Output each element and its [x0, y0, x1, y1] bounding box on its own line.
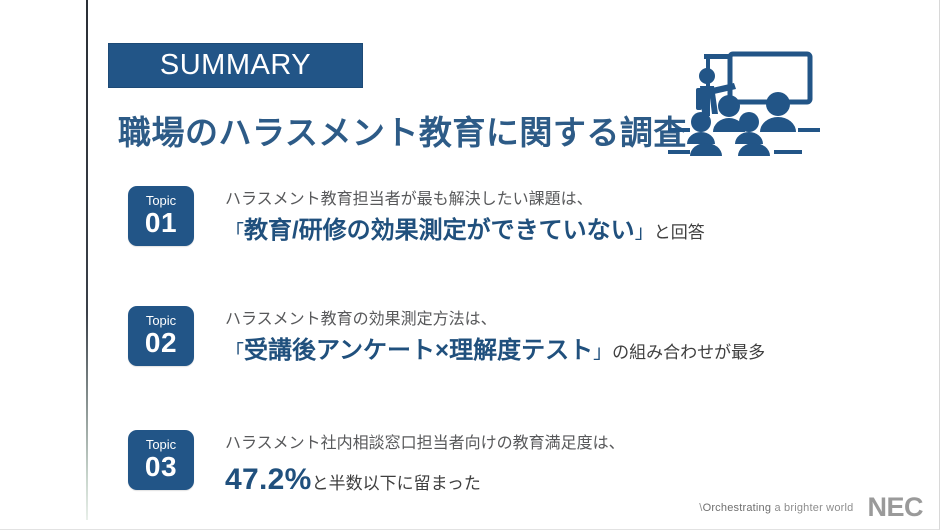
topic-text: ハラスメント社内相談窓口担当者向けの教育満足度は、 47.2%と半数以下に留まっ… [225, 430, 625, 501]
topic-tail: の組み合わせが最多 [612, 343, 765, 362]
topic-row: Topic 03 ハラスメント社内相談窓口担当者向けの教育満足度は、 47.2%… [128, 430, 868, 501]
tagline-rest: a brighter world [771, 502, 853, 514]
topic-row: Topic 02 ハラスメント教育の効果測定方法は、 「受講後アンケート×理解度… [128, 306, 868, 369]
topic-lead-text: ハラスメント社内相談窓口担当者向けの教育満足度は、 [225, 432, 625, 457]
topic-number: 01 [145, 208, 177, 237]
seminar-training-illustration [666, 44, 836, 164]
topic-text: ハラスメント教育の効果測定方法は、 「受講後アンケート×理解度テスト」の組み合わ… [225, 306, 765, 369]
topic-number: 03 [145, 452, 177, 481]
summary-banner: SUMMARY [108, 43, 363, 88]
tagline-strong: Orchestrating [703, 502, 772, 514]
footer: \Orchestrating a brighter world NEC [699, 494, 923, 521]
topic-headline: 「教育/研修の効果測定ができていない」と回答 [225, 214, 705, 249]
topic-tail: と回答 [654, 223, 705, 242]
topic-kicker: Topic [146, 194, 176, 208]
topic-badge-01: Topic 01 [128, 186, 194, 246]
topic-row: Topic 01 ハラスメント教育担当者が最も解決したい課題は、 「教育/研修の… [128, 186, 868, 249]
summary-banner-label: SUMMARY [160, 51, 311, 80]
topic-highlight: 教育/研修の効果測定ができていない [244, 217, 635, 244]
topic-lead-text: ハラスメント教育の効果測定方法は、 [225, 308, 765, 333]
topic-kicker: Topic [146, 314, 176, 328]
close-quote: 」 [593, 342, 612, 363]
topic-highlight: 受講後アンケート×理解度テスト [244, 337, 593, 364]
topic-badge-03: Topic 03 [128, 430, 194, 490]
topic-lead-text: ハラスメント教育担当者が最も解決したい課題は、 [225, 188, 705, 213]
topic-kicker: Topic [146, 438, 176, 452]
topic-tail: と半数以下に留まった [312, 474, 481, 493]
open-quote: 「 [225, 342, 244, 363]
summary-slide: SUMMARY 職場のハラスメント教育に関する調査 [0, 0, 940, 530]
close-quote: 」 [635, 222, 654, 243]
left-vertical-rule [86, 0, 88, 520]
page-title: 職場のハラスメント教育に関する調査 [118, 106, 687, 154]
topic-percentage: 47.2% [225, 463, 312, 496]
topic-badge-02: Topic 02 [128, 306, 194, 366]
nec-logo: NEC [867, 494, 923, 521]
topic-number: 02 [145, 328, 177, 357]
topic-headline: 47.2%と半数以下に留まった [225, 458, 625, 502]
topic-text: ハラスメント教育担当者が最も解決したい課題は、 「教育/研修の効果測定ができてい… [225, 186, 705, 249]
footer-tagline: \Orchestrating a brighter world [699, 502, 853, 514]
open-quote: 「 [225, 222, 244, 243]
topic-headline: 「受講後アンケート×理解度テスト」の組み合わせが最多 [225, 334, 765, 369]
